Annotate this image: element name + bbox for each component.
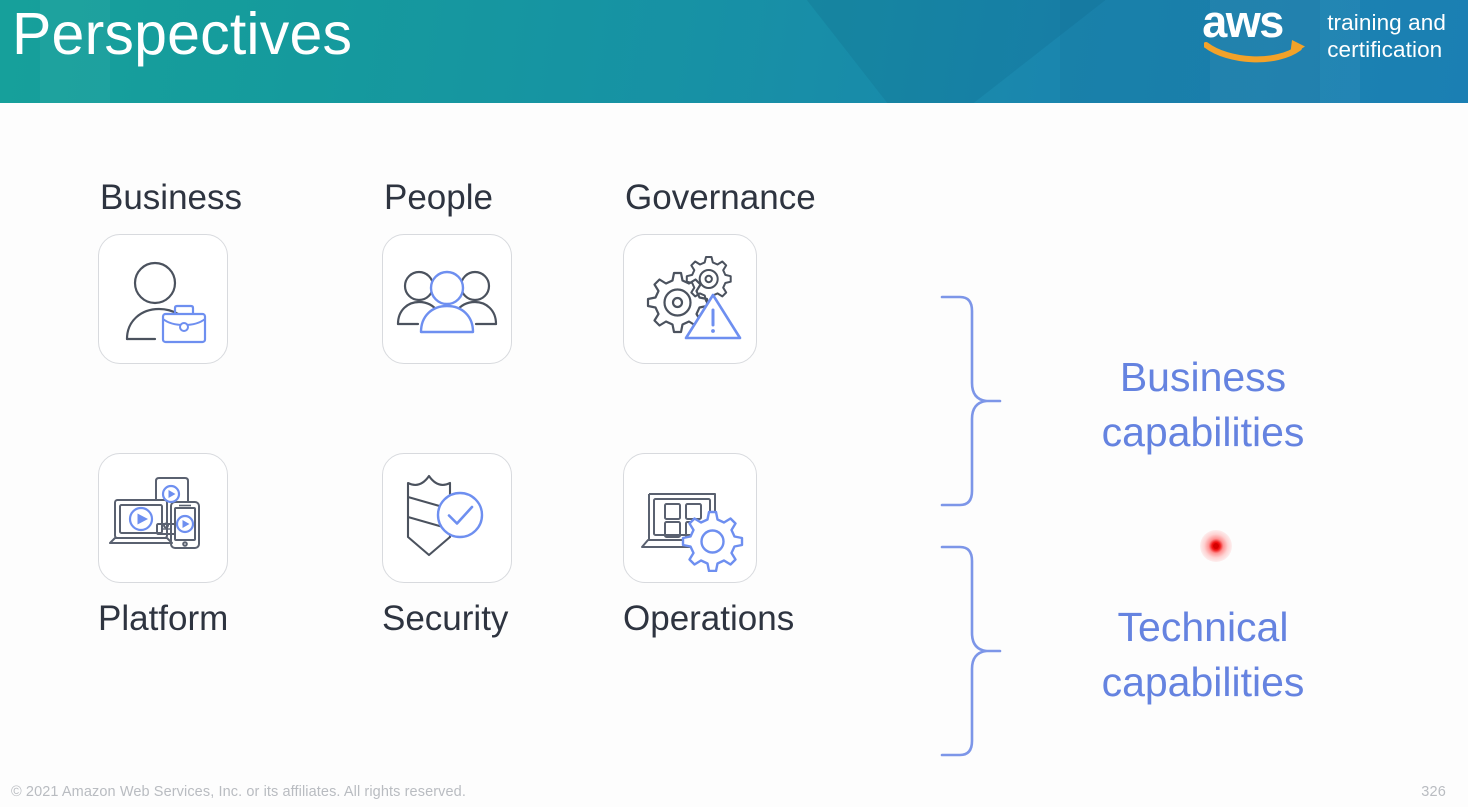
perspective-label: People bbox=[384, 180, 512, 215]
aws-tagline-line2: certification bbox=[1327, 36, 1446, 63]
shield-check-icon bbox=[394, 465, 500, 571]
perspective-people: People bbox=[382, 180, 512, 364]
three-people-icon bbox=[394, 246, 500, 352]
aws-tagline: training and certification bbox=[1327, 9, 1446, 64]
person-briefcase-icon bbox=[111, 247, 215, 351]
perspective-label: Platform bbox=[98, 601, 228, 636]
perspective-security: Security bbox=[382, 453, 512, 636]
perspective-business: Business bbox=[98, 180, 242, 364]
gears-warning-icon bbox=[636, 245, 744, 353]
page-title: Perspectives bbox=[12, 1, 352, 67]
perspective-icon-card bbox=[623, 234, 757, 364]
perspective-label: Security bbox=[382, 601, 512, 636]
devices-play-icon bbox=[109, 464, 217, 572]
footer-copyright: © 2021 Amazon Web Services, Inc. or its … bbox=[11, 784, 466, 800]
technical-capabilities-label: Technical capabilities bbox=[988, 600, 1418, 709]
perspective-label: Governance bbox=[625, 180, 816, 215]
perspective-icon-card bbox=[98, 234, 228, 364]
slide-header: Perspectives aws training and certificat… bbox=[0, 0, 1468, 103]
business-capabilities-label: Business capabilities bbox=[988, 350, 1418, 459]
slide-body: Business People bbox=[0, 103, 1468, 807]
perspective-platform: Platform bbox=[98, 453, 228, 636]
perspective-icon-card bbox=[382, 234, 512, 364]
aws-smile-icon bbox=[1204, 38, 1312, 64]
laptop-gear-icon bbox=[636, 464, 744, 572]
footer-page-number: 326 bbox=[1421, 784, 1446, 800]
perspective-icon-card bbox=[623, 453, 757, 583]
aws-tagline-line1: training and bbox=[1327, 9, 1446, 36]
perspective-operations: Operations bbox=[623, 453, 794, 636]
aws-logo: aws training and certification bbox=[1202, 4, 1446, 64]
perspective-label: Business bbox=[100, 180, 242, 215]
perspective-icon-card bbox=[98, 453, 228, 583]
perspective-label: Operations bbox=[623, 601, 794, 636]
perspective-governance: Governance bbox=[623, 180, 816, 364]
aws-wordmark-group: aws bbox=[1202, 4, 1314, 62]
perspective-icon-card bbox=[382, 453, 512, 583]
